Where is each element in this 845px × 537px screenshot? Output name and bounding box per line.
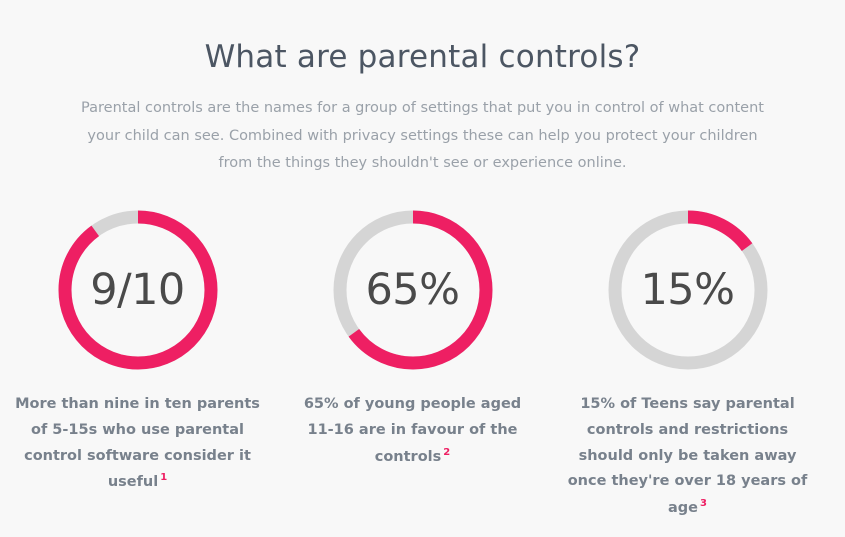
- stat-caption-2: 65% of young people aged 11-16 are in fa…: [289, 392, 537, 470]
- donut-value-3: 15%: [608, 210, 768, 370]
- donut-gauge-2: 65%: [333, 210, 493, 370]
- stat-card-3: 15% 15% of Teens say parental controls a…: [550, 210, 825, 522]
- stat-card-1: 9/10 More than nine in ten parents of 5-…: [0, 210, 275, 496]
- donut-value-2: 65%: [333, 210, 493, 370]
- stat-caption-3: 15% of Teens say parental controls and r…: [564, 392, 812, 522]
- stat-footnote-1: 1: [160, 472, 167, 483]
- stat-caption-text-3: 15% of Teens say parental controls and r…: [568, 396, 808, 516]
- donut-value-1: 9/10: [58, 210, 218, 370]
- stats-row: 9/10 More than nine in ten parents of 5-…: [0, 210, 845, 522]
- stat-card-2: 65% 65% of young people aged 11-16 are i…: [275, 210, 550, 470]
- donut-gauge-3: 15%: [608, 210, 768, 370]
- infographic-page: What are parental controls? Parental con…: [0, 0, 845, 537]
- donut-gauge-1: 9/10: [58, 210, 218, 370]
- stat-caption-text-1: More than nine in ten parents of 5-15s w…: [15, 396, 260, 490]
- stat-caption-text-2: 65% of young people aged 11-16 are in fa…: [304, 396, 521, 464]
- heading-block: What are parental controls? Parental con…: [0, 0, 845, 178]
- stat-footnote-2: 2: [443, 447, 450, 458]
- stat-footnote-3: 3: [700, 498, 707, 509]
- page-title: What are parental controls?: [0, 38, 845, 77]
- intro-paragraph: Parental controls are the names for a gr…: [73, 95, 773, 178]
- stat-caption-1: More than nine in ten parents of 5-15s w…: [14, 392, 262, 496]
